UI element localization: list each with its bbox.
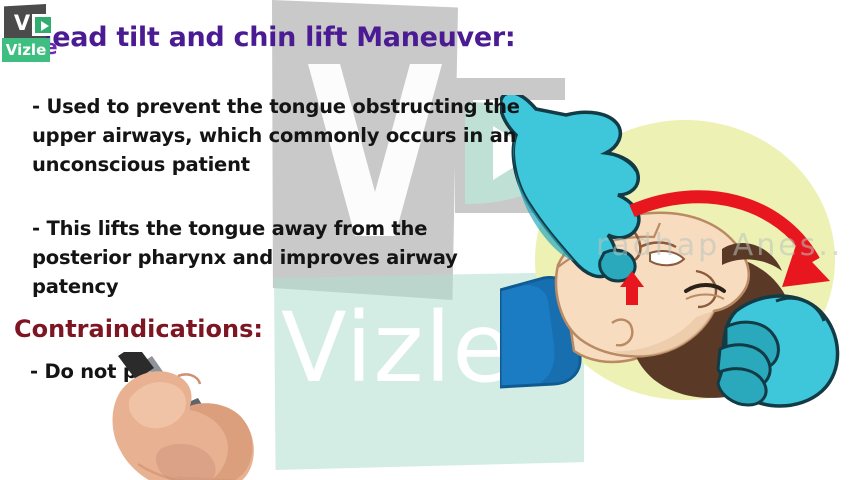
head-tilt-chin-lift-illustration: radhap Anes.. bbox=[500, 95, 854, 425]
bullet-item-1: - Used to prevent the tongue obstructing… bbox=[32, 92, 552, 179]
logo-name-label: Vizle bbox=[2, 38, 50, 62]
vizle-logo-badge: V e Vizle bbox=[2, 2, 60, 64]
bullet-item-2: - This lifts the tongue away from the po… bbox=[32, 214, 492, 301]
logo-v-letter: V bbox=[12, 12, 32, 36]
page-title: Head tilt and chin lift Maneuver: bbox=[30, 22, 515, 53]
drawing-hand bbox=[78, 352, 308, 480]
gloved-hand-chin bbox=[718, 296, 838, 406]
logo-play-icon bbox=[32, 14, 54, 36]
hand-shape bbox=[113, 371, 254, 480]
section-heading-contraindications: Contraindications: bbox=[14, 315, 263, 343]
watermark-vizle-text: Vizle bbox=[281, 300, 512, 396]
video-frame: Vizle bbox=[0, 0, 854, 480]
illustration-watermark: radhap Anes.. bbox=[596, 228, 843, 263]
